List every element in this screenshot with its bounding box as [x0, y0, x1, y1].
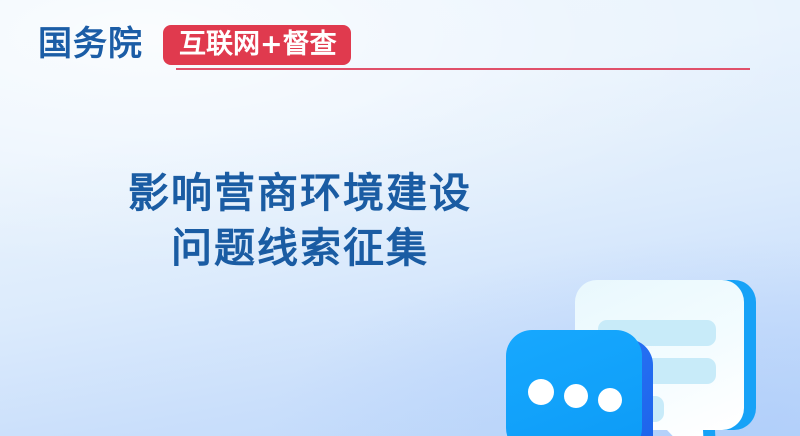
- banner-header: 国务院 互联网+督查: [0, 0, 800, 96]
- blue-bubble-face: [506, 330, 642, 436]
- typing-dot-1: [528, 379, 554, 405]
- typing-dot-3: [598, 388, 622, 412]
- small-blue-chat-bubble: [506, 330, 653, 436]
- typing-dot-2: [564, 384, 588, 408]
- chat-bubbles-illustration: [460, 210, 800, 436]
- badge-label: 互联网+督查: [179, 30, 337, 60]
- header-divider-rule: [176, 68, 750, 70]
- internet-plus-supervision-badge[interactable]: 互联网+督查: [163, 25, 351, 65]
- banner: 国务院 互联网+督查 影响营商环境建设 问题线索征集: [0, 0, 800, 436]
- gov-council-logo: 国务院: [38, 24, 143, 64]
